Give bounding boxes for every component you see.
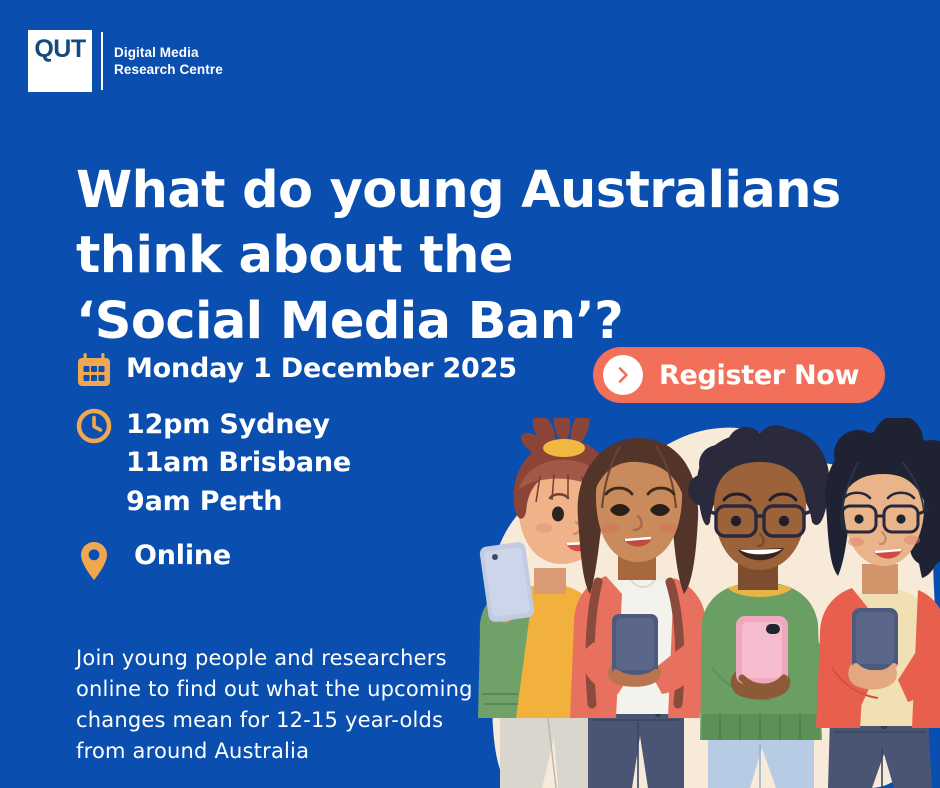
event-promo-poster: QUT Digital Media Research Centre What d… bbox=[0, 0, 940, 788]
logo-wordmark: Digital Media Research Centre bbox=[114, 44, 223, 79]
event-description: Join young people and researchers online… bbox=[76, 643, 476, 767]
event-location-text: Online bbox=[126, 535, 231, 575]
headline-line-1: What do young Australians bbox=[76, 158, 836, 223]
clock-icon bbox=[74, 404, 126, 446]
logo-wordmark-line1: Digital Media bbox=[114, 44, 223, 61]
event-date-row: Monday 1 December 2025 bbox=[74, 348, 574, 390]
logo-divider bbox=[101, 32, 103, 90]
headline-line-3: ‘Social Media Ban’? bbox=[76, 289, 836, 354]
qut-logo-text: QUT bbox=[34, 37, 85, 62]
event-time-row: 12pm Sydney 11am Brisbane 9am Perth bbox=[74, 404, 574, 521]
page-title: What do young Australians think about th… bbox=[76, 158, 836, 354]
logo-wordmark-line2: Research Centre bbox=[114, 61, 223, 78]
qut-dmrc-logo: QUT Digital Media Research Centre bbox=[28, 30, 223, 92]
map-pin-icon bbox=[74, 535, 126, 583]
qut-logo-mark: QUT bbox=[28, 30, 92, 92]
register-now-label: Register Now bbox=[659, 360, 859, 391]
event-location-row: Online bbox=[74, 535, 574, 583]
event-time-text: 12pm Sydney 11am Brisbane 9am Perth bbox=[126, 404, 351, 521]
event-date-text: Monday 1 December 2025 bbox=[126, 348, 517, 388]
event-details: Monday 1 December 2025 12pm Sydney 11am … bbox=[74, 348, 574, 597]
headline-line-2: think about the bbox=[76, 223, 836, 288]
chevron-right-icon bbox=[603, 355, 643, 395]
register-now-button[interactable]: Register Now bbox=[593, 347, 885, 403]
calendar-icon bbox=[74, 348, 126, 390]
